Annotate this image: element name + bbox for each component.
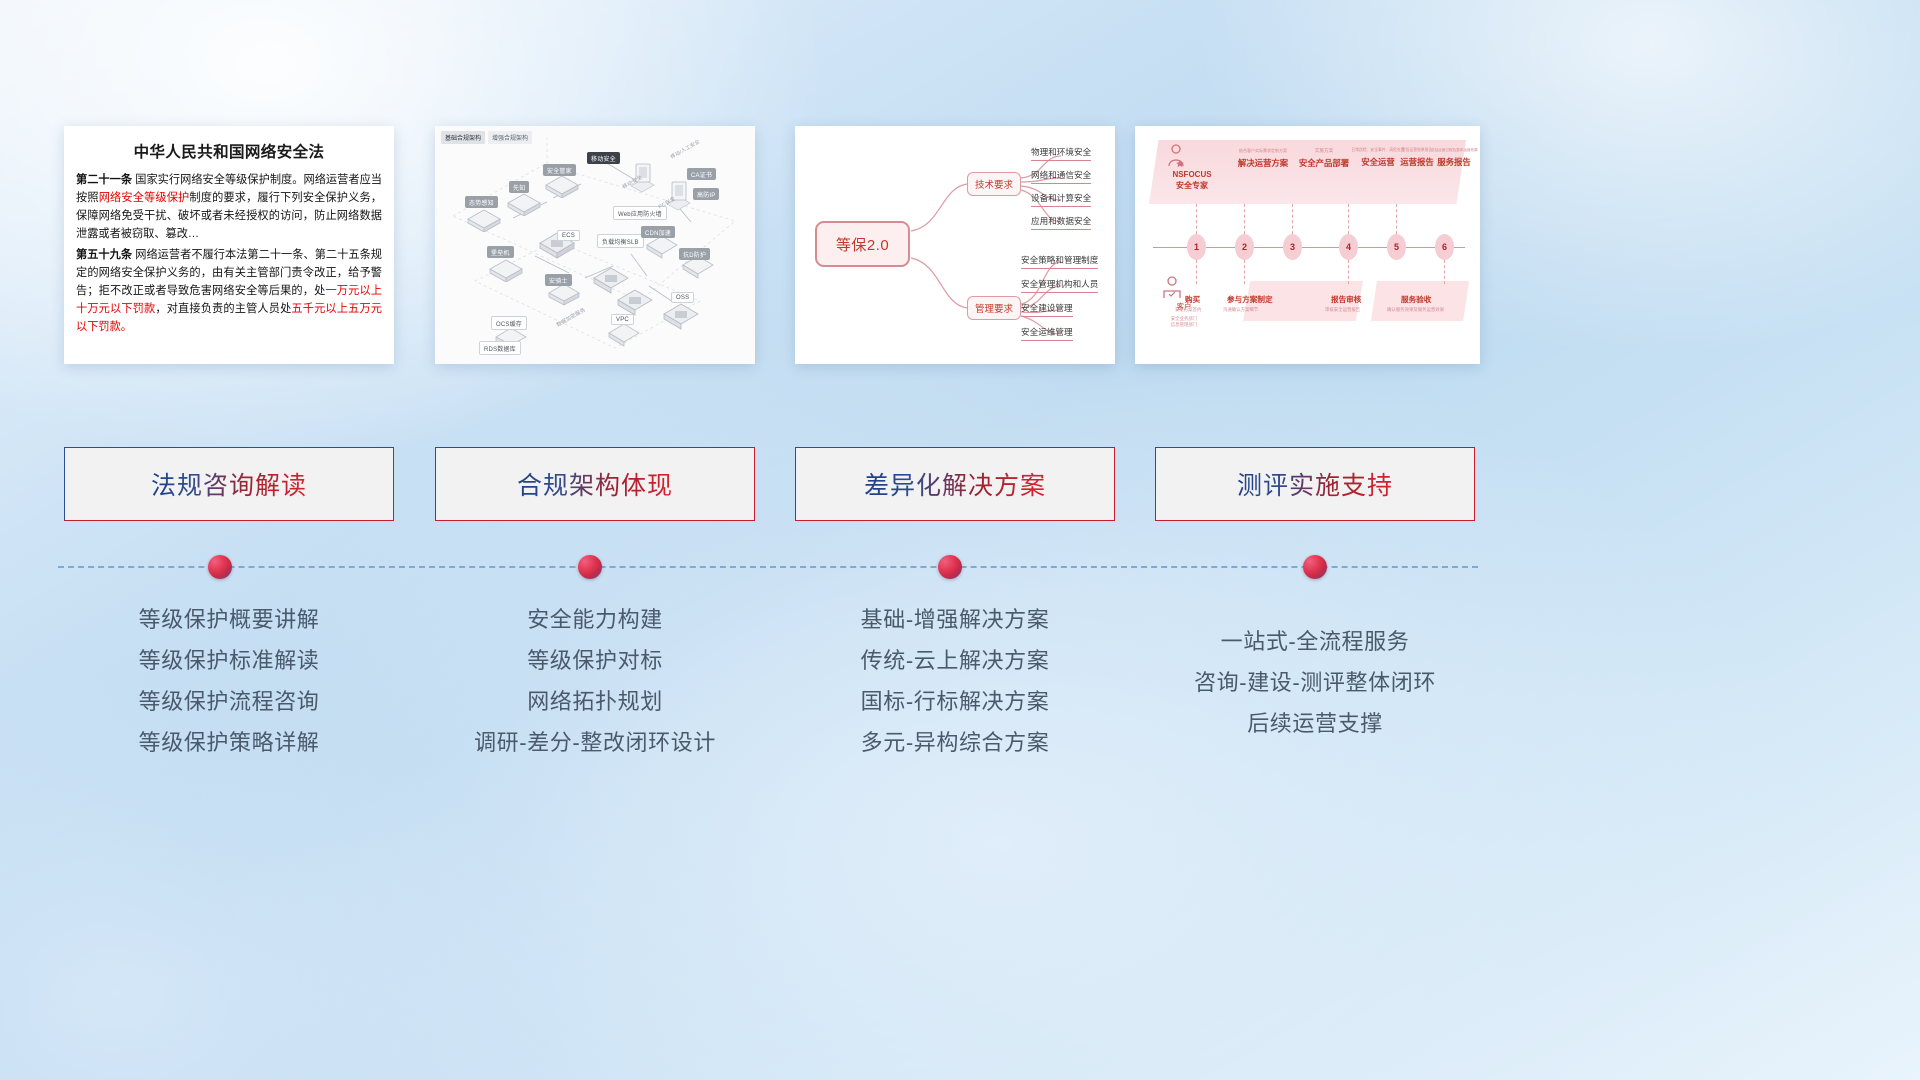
list-item: 咨询-建设-测评整体闭环 — [1155, 663, 1475, 704]
node-situational-awareness: 态势感知 — [465, 196, 498, 208]
detail-column-1: 等级保护概要讲解 等级保护标准解读 等级保护流程咨询 等级保护策略详解 — [64, 600, 394, 764]
list-item: 等级保护对标 — [435, 641, 755, 682]
node-ecs: ECS — [557, 230, 580, 241]
node-cdn: CDN加速 — [641, 226, 675, 238]
mindmap-root: 等保2.0 — [815, 221, 910, 267]
card-law-text: 中华人民共和国网络安全法 第二十一条 国家实行网络安全等级保护制度。网络运营者应… — [64, 126, 394, 364]
detail-column-3: 基础-增强解决方案 传统-云上解决方案 国标-行标解决方案 多元-异构综合方案 — [795, 600, 1115, 764]
timeline-node-6: 6 — [1435, 234, 1454, 260]
list-item: 国标-行标解决方案 — [795, 682, 1115, 723]
expert-step-5-main: 服务报告 — [1431, 156, 1477, 168]
mindmap-leaf-operation: 安全运维管理 — [1021, 326, 1073, 341]
list-item: 调研-差分-整改闭环设计 — [435, 723, 755, 764]
banner-label-2: 合规架构体现 — [517, 466, 673, 502]
mindmap-canvas: 等保2.0 技术要求 管理要求 物理和环境安全 网络和通信安全 设备和计算安全 … — [795, 126, 1115, 364]
detail-column-2: 安全能力构建 等级保护对标 网络拓扑规划 调研-差分-整改闭环设计 — [435, 600, 755, 764]
expert-step-2: 实施方案 安全产品部署 — [1293, 148, 1355, 169]
customer-action-4: 服务验收 — [1401, 294, 1431, 305]
timeline-dashed-line — [58, 566, 1478, 568]
node-high-defense-ip: 高防IP — [693, 188, 719, 200]
timeline-dot-1[interactable] — [208, 555, 232, 579]
node-xianzhi: 先知 — [509, 181, 529, 193]
node-antiddos: 抗D防护 — [679, 248, 710, 260]
customer-action-4-sub: 确认服务效果及服务运营效果 — [1387, 307, 1444, 313]
timeline-dot-2[interactable] — [578, 555, 602, 579]
banner-label-3: 差异化解决方案 — [864, 466, 1046, 502]
timeline-node-2: 2 — [1235, 234, 1254, 260]
mindmap-leaf-construction: 安全建设管理 — [1021, 302, 1073, 317]
mindmap-branch-technical: 技术要求 — [967, 172, 1021, 196]
connector-2 — [1244, 204, 1245, 234]
mindmap-leaf-application: 应用和数据安全 — [1031, 215, 1091, 230]
service-timeline-canvas: NSFOCUS安全专家 客户 安全业务部门信息管理部门 结合客户实际需求定制方案… — [1135, 126, 1480, 364]
mindmap-leaf-physical: 物理和环境安全 — [1031, 146, 1091, 161]
customer-action-1: 购买 — [1185, 294, 1200, 305]
customer-action-3: 报告审核 — [1331, 294, 1361, 305]
banner-row: 法规咨询解读 合规架构体现 差异化解决方案 测评实施支持 — [0, 447, 1920, 521]
law-article-21: 第二十一条 国家实行网络安全等级保护制度。网络运营者应当按照网络安全等级保护制度… — [76, 171, 382, 244]
customer-avatar-icon — [1161, 276, 1183, 300]
node-slb: 负载均衡SLB — [597, 234, 644, 248]
expert-step-2-sub: 实施方案 — [1293, 148, 1355, 154]
node-ocs-cache: OCS缓存 — [491, 316, 527, 330]
expert-role-label: NSFOCUS安全专家 — [1155, 170, 1229, 191]
connector-1 — [1196, 204, 1197, 234]
node-cloud-shield: 移动安全 — [587, 152, 620, 164]
node-anqishi: 安骑士 — [545, 274, 572, 286]
list-item: 一站式-全流程服务 — [1155, 622, 1475, 663]
article-59-label: 第五十九条 — [76, 249, 132, 261]
device-icon-situational — [467, 208, 501, 232]
customer-role-sub: 安全业务部门信息管理部门 — [1149, 316, 1219, 327]
timeline-node-4: 4 — [1339, 234, 1358, 260]
article-59-text-b: ，对直接负责的主管人员处 — [155, 303, 291, 315]
node-ca-certificate: CA证书 — [687, 168, 716, 180]
device-icon-xianzhi — [507, 192, 541, 216]
connector-3 — [1292, 204, 1293, 234]
timeline-node-5: 5 — [1387, 234, 1406, 260]
card-architecture-diagram: 基础合规架构 增强合规架构 — [435, 126, 755, 364]
list-item: 安全能力构建 — [435, 600, 755, 641]
list-item: 后续运营支撑 — [1155, 704, 1475, 745]
list-item: 基础-增强解决方案 — [795, 600, 1115, 641]
mindmap-leaf-device: 设备和计算安全 — [1031, 192, 1091, 207]
timeline-dot-4[interactable] — [1303, 555, 1327, 579]
banner-differentiated-solution[interactable]: 差异化解决方案 — [795, 447, 1115, 521]
timeline-dot-3[interactable] — [938, 555, 962, 579]
customer-action-3-sub: 审核安全运营报告 — [1325, 307, 1360, 313]
connector-7 — [1244, 260, 1245, 284]
architecture-canvas: 基础合规架构 增强合规架构 — [435, 126, 755, 364]
connector-9 — [1444, 260, 1445, 284]
article-21-highlight: 网络安全等级保护 — [99, 192, 190, 204]
customer-action-1-sub: 安全方案签约 — [1175, 307, 1201, 313]
node-oss: OSS — [671, 292, 694, 303]
timeline-node-1: 1 — [1187, 234, 1206, 260]
list-item: 等级保护标准解读 — [64, 641, 394, 682]
mindmap-leaf-policy: 安全策略和管理制度 — [1021, 254, 1098, 269]
list-item: 等级保护流程咨询 — [64, 682, 394, 723]
expert-step-5-sub: 总结运营过程及整体运营效果 — [1431, 148, 1477, 153]
connector-8 — [1348, 260, 1349, 284]
expert-step-2-main: 安全产品部署 — [1293, 157, 1355, 169]
card-mindmap: 等保2.0 技术要求 管理要求 物理和环境安全 网络和通信安全 设备和计算安全 … — [795, 126, 1115, 364]
node-bastion-host: 堡垒机 — [487, 246, 514, 258]
progress-timeline — [58, 566, 1478, 568]
detail-column-4: 一站式-全流程服务 咨询-建设-测评整体闭环 后续运营支撑 — [1155, 600, 1475, 745]
device-icon-server-b — [617, 288, 653, 316]
law-article-59: 第五十九条 网络运营者不履行本法第二十一条、第二十五条规定的网络安全保护义务的，… — [76, 246, 382, 337]
mindmap-leaf-network: 网络和通信安全 — [1031, 169, 1091, 184]
banner-regulation-consulting[interactable]: 法规咨询解读 — [64, 447, 394, 521]
node-vpc: VPC — [611, 314, 634, 325]
banner-label-1: 法规咨询解读 — [151, 466, 307, 502]
device-icon-vpc — [607, 322, 641, 348]
list-item: 等级保护概要讲解 — [64, 600, 394, 641]
device-icon-oss — [663, 302, 699, 330]
device-icon-bastion — [489, 258, 523, 282]
list-item: 传统-云上解决方案 — [795, 641, 1115, 682]
banner-label-4: 测评实施支持 — [1237, 466, 1393, 502]
expert-step-5: 总结运营过程及整体运营效果 服务报告 — [1431, 148, 1477, 168]
list-item: 等级保护策略详解 — [64, 723, 394, 764]
timeline-node-3: 3 — [1283, 234, 1302, 260]
connector-6 — [1196, 260, 1197, 284]
list-item: 多元-异构综合方案 — [795, 723, 1115, 764]
card-service-timeline: NSFOCUS安全专家 客户 安全业务部门信息管理部门 结合客户实际需求定制方案… — [1135, 126, 1480, 364]
mindmap-branch-management: 管理要求 — [967, 296, 1021, 320]
article-21-label: 第二十一条 — [76, 174, 132, 186]
expert-step-1: 结合客户实际需求定制方案 解决运营方案 — [1227, 148, 1299, 169]
mindmap-leaf-org: 安全管理机构和人员 — [1021, 278, 1098, 293]
law-body: 中华人民共和国网络安全法 第二十一条 国家实行网络安全等级保护制度。网络运营者应… — [64, 126, 394, 348]
node-rds: RDS数据库 — [479, 341, 521, 355]
banner-evaluation-support[interactable]: 测评实施支持 — [1155, 447, 1475, 521]
expert-step-1-sub: 结合客户实际需求定制方案 — [1227, 148, 1299, 154]
connector-4 — [1348, 204, 1349, 234]
device-icon-security-butler — [545, 174, 579, 198]
detail-lists: 等级保护概要讲解 等级保护标准解读 等级保护流程咨询 等级保护策略详解 安全能力… — [0, 600, 1920, 800]
expert-step-1-main: 解决运营方案 — [1227, 157, 1299, 169]
banner-compliance-architecture[interactable]: 合规架构体现 — [435, 447, 755, 521]
law-title: 中华人民共和国网络安全法 — [76, 140, 382, 162]
customer-action-2: 参与方案制定 — [1227, 294, 1273, 305]
node-security-butler: 安全管家 — [543, 164, 576, 176]
card-row: 中华人民共和国网络安全法 第二十一条 国家实行网络安全等级保护制度。网络运营者应… — [0, 126, 1920, 364]
connector-5 — [1396, 204, 1397, 234]
list-item: 网络拓扑规划 — [435, 682, 755, 723]
device-icon-pc-security — [663, 178, 693, 212]
slide-root: 中华人民共和国网络安全法 第二十一条 国家实行网络安全等级保护制度。网络运营者应… — [0, 0, 1920, 1080]
customer-action-2-sub: 沟通确认方案细节 — [1223, 307, 1258, 313]
expert-avatar-icon — [1165, 144, 1187, 168]
